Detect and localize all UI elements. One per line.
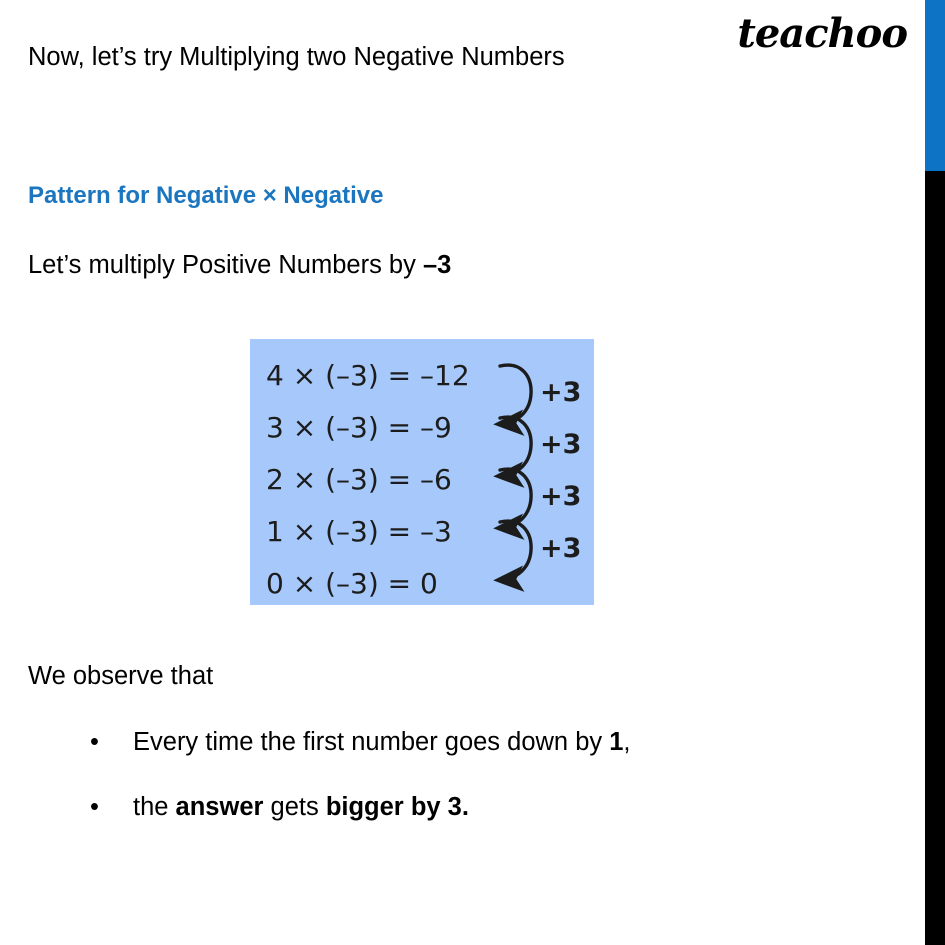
- step-arrow-icon: [500, 469, 531, 528]
- step-label: +3: [540, 379, 581, 406]
- step-arrow-icon: [500, 365, 531, 424]
- right-edge-blue-bar: [925, 0, 945, 171]
- right-edge-black-bar: [925, 171, 945, 945]
- list-item-bold-2: bigger by 3.: [326, 793, 469, 821]
- step-label: +3: [540, 483, 581, 510]
- pattern-box: 4 × (–3) = –12 3 × (–3) = –9 2 × (–3) = …: [250, 339, 594, 605]
- section-heading: Pattern for Negative × Negative: [28, 182, 383, 210]
- step-label: +3: [540, 535, 581, 562]
- lead-text-prefix: Let’s multiply Positive Numbers by: [28, 251, 423, 279]
- lead-text-bold: –3: [423, 251, 451, 279]
- observation-heading: We observe that: [28, 662, 213, 691]
- list-item: •Every time the first number goes down b…: [90, 728, 631, 757]
- list-item-prefix: Every time the first number goes down by: [133, 728, 609, 756]
- lead-text: Let’s multiply Positive Numbers by –3: [28, 251, 451, 280]
- list-item-suffix: ,: [623, 728, 630, 756]
- bullet-marker: •: [90, 728, 133, 757]
- bullet-marker: •: [90, 793, 133, 822]
- step-label: +3: [540, 431, 581, 458]
- teachoo-logo: teachoo: [737, 14, 907, 54]
- list-item-bold: answer: [176, 793, 264, 821]
- list-item-prefix: the: [133, 793, 176, 821]
- list-item-bold: 1: [609, 728, 623, 756]
- intro-text: Now, let’s try Multiplying two Negative …: [28, 42, 565, 74]
- step-arrow-icon: [500, 417, 531, 476]
- list-item-mid: gets: [263, 793, 325, 821]
- list-item: •the answer gets bigger by 3.: [90, 793, 469, 822]
- step-arrow-icon: [500, 521, 531, 580]
